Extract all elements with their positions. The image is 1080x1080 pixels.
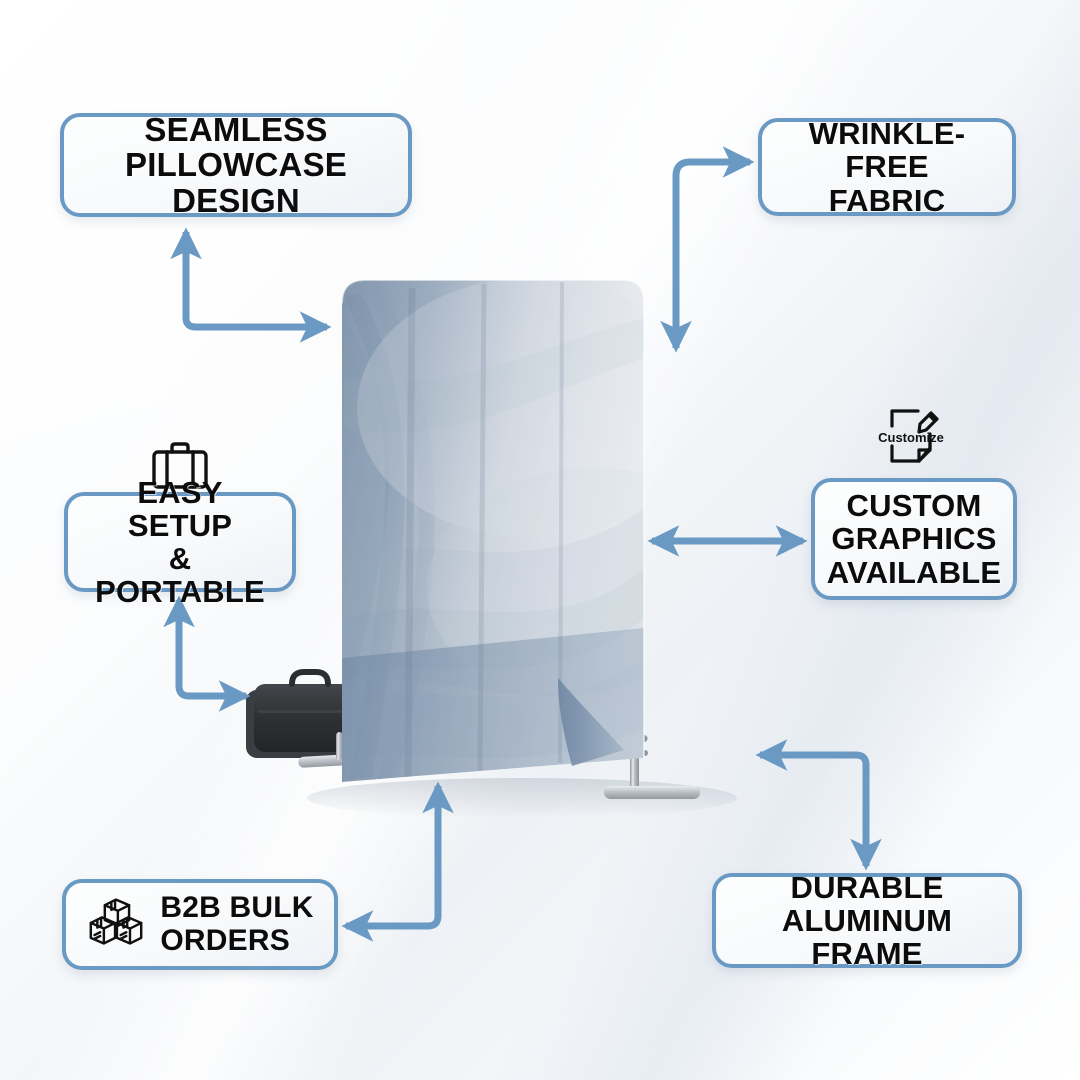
infographic-canvas: Customize SEAMLESS PILLOWCASE DESIGN WRI… [0, 0, 1080, 1080]
stacked-boxes-icon [86, 894, 146, 955]
callout-custom-graphics-text: CUSTOM GRAPHICS AVAILABLE [827, 489, 1002, 588]
callout-b2b-bulk[interactable]: B2B BULK ORDERS [62, 879, 338, 970]
customize-document-pencil-icon: Customize [874, 400, 948, 472]
callout-durable-frame[interactable]: DURABLE ALUMINUM FRAME [712, 873, 1022, 968]
customize-icon-label: Customize [878, 430, 944, 445]
callout-seamless-pillowcase[interactable]: SEAMLESS PILLOWCASE DESIGN [60, 113, 412, 217]
product-svg [232, 258, 832, 858]
callout-seamless-text: SEAMLESS PILLOWCASE DESIGN [80, 112, 392, 218]
callout-easy-setup[interactable]: EASY SETUP & PORTABLE [64, 492, 296, 592]
product-illustration [232, 258, 832, 858]
callout-custom-graphics[interactable]: CUSTOM GRAPHICS AVAILABLE [811, 478, 1017, 600]
callout-b2b-text: B2B BULK ORDERS [160, 892, 313, 956]
callout-durable-frame-text: DURABLE ALUMINUM FRAME [732, 871, 1002, 970]
frame-foot-right [604, 786, 700, 799]
callout-wrinkle-free[interactable]: WRINKLE-FREE FABRIC [758, 118, 1016, 216]
callout-easy-setup-text: EASY SETUP & PORTABLE [84, 476, 276, 609]
callout-wrinkle-text: WRINKLE-FREE FABRIC [778, 117, 996, 216]
printed-stretch-fabric-panel [336, 278, 757, 783]
